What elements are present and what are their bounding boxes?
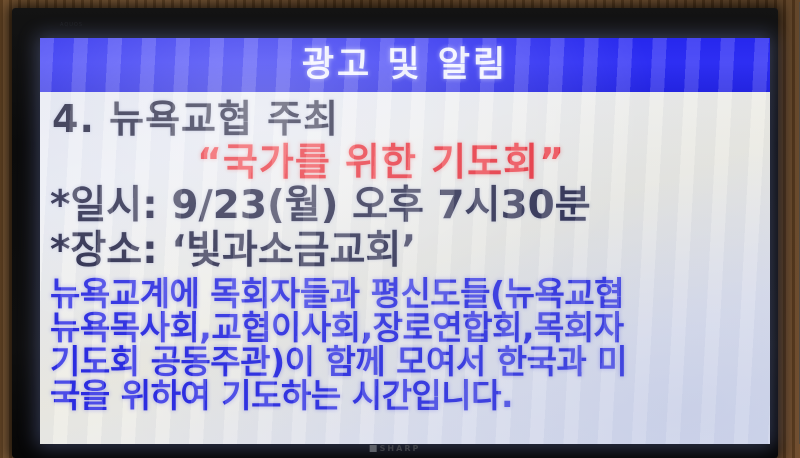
description-line: 국을 위하여 기도하는 시간입니다.: [50, 379, 766, 412]
brand-text: SHARP: [380, 444, 421, 453]
announcement-item-title: 4. 뉴욕교협 주최: [48, 100, 766, 138]
announcement-description: 뉴욕교계에 목회자들과 평신도들(뉴욕교협 뉴욕목사회,교협이사회,장로연합회,…: [48, 277, 766, 412]
slide-body: 4. 뉴욕교협 주최 “국가를 위한 기도회” *일시: 9/23(월) 오후 …: [40, 92, 770, 412]
television-display: AQUOS 광고 및 알림 4. 뉴욕교협 주최 “국가를 위한 기도회” *일…: [12, 8, 778, 458]
description-line: 뉴욕목사회,교협이사회,장로연합회,목회자: [50, 311, 766, 344]
room-scene: AQUOS 광고 및 알림 4. 뉴욕교협 주최 “국가를 위한 기도회” *일…: [0, 0, 800, 458]
announcement-event-theme: “국가를 위한 기도회”: [48, 143, 766, 181]
tv-brand-logo: SHARP: [370, 444, 421, 453]
announcement-place: *장소: ‘빛과소금교회’: [48, 231, 766, 270]
tv-top-brand-mark: AQUOS: [60, 22, 83, 28]
description-line: 기도회 공동주관)이 함께 모여서 한국과 미: [50, 345, 766, 378]
screen-panel: 광고 및 알림 4. 뉴욕교협 주최 “국가를 위한 기도회” *일시: 9/2…: [40, 38, 770, 444]
slide-header-bar: 광고 및 알림: [40, 38, 770, 92]
announcement-datetime: *일시: 9/23(월) 오후 7시30분: [48, 186, 766, 225]
description-line: 뉴욕교계에 목회자들과 평신도들(뉴욕교협: [50, 277, 766, 310]
slide-header-title: 광고 및 알림: [302, 48, 508, 83]
brand-square-icon: [370, 445, 377, 452]
